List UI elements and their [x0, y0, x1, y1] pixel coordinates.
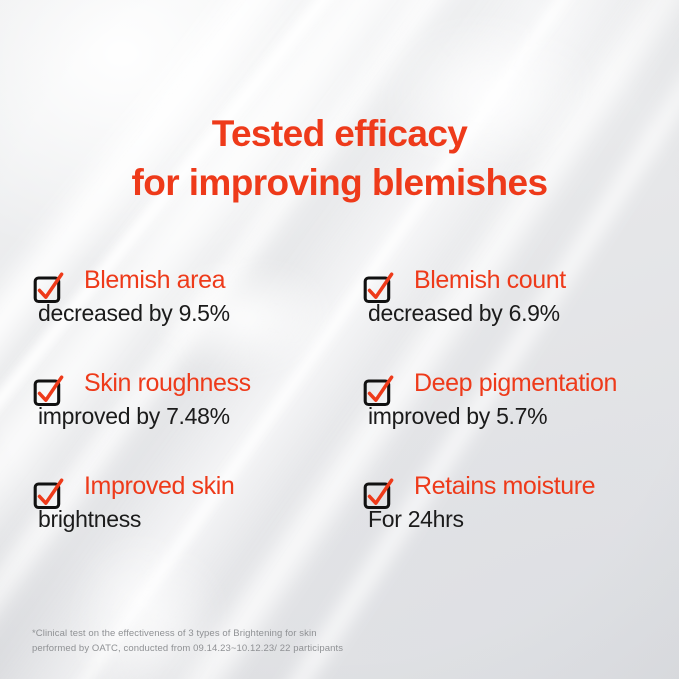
checklist-item-subtitle: decreased by 9.5% [38, 297, 230, 329]
footnote-disclaimer: *Clinical test on the effectiveness of 3… [32, 626, 343, 656]
checklist-item-subtitle: brightness [38, 503, 234, 535]
checklist-item-title: Retains moisture [414, 470, 595, 503]
checklist-item-title: Deep pigmentation [414, 367, 617, 400]
checklist-item-text: Blemish area decreased by 9.5% [84, 264, 230, 329]
checklist-item-text: Skin roughness improved by 7.48% [84, 367, 251, 432]
page-title-line-2: for improving blemishes [0, 158, 679, 207]
checklist-row: Skin roughness improved by 7.48% Deep pi… [0, 367, 679, 470]
checklist-item-title: Skin roughness [84, 367, 251, 400]
checklist-item-title: Blemish count [414, 264, 566, 297]
checklist-item-text: Deep pigmentation improved by 5.7% [414, 367, 617, 432]
page-title: Tested efficacy for improving blemishes [0, 109, 679, 207]
checklist-item-text: Retains moisture For 24hrs [414, 470, 595, 535]
checklist-item-subtitle: For 24hrs [368, 503, 595, 535]
checklist-item-title: Improved skin [84, 470, 234, 503]
checklist-item-subtitle: improved by 5.7% [368, 400, 617, 432]
checklist-item-text: Blemish count decreased by 6.9% [414, 264, 566, 329]
checklist-item-title: Blemish area [84, 264, 230, 297]
checklist-row: Improved skin brightness Retains moistur… [0, 470, 679, 573]
footnote-line-1: *Clinical test on the effectiveness of 3… [32, 626, 343, 641]
page-title-line-1: Tested efficacy [0, 109, 679, 158]
benefit-checklist: Blemish area decreased by 9.5% Blemish c… [0, 264, 679, 573]
checklist-row: Blemish area decreased by 9.5% Blemish c… [0, 264, 679, 367]
checklist-item-subtitle: improved by 7.48% [38, 400, 251, 432]
checklist-item-text: Improved skin brightness [84, 470, 234, 535]
efficacy-infographic: Tested efficacy for improving blemishes … [0, 0, 679, 679]
checklist-item-subtitle: decreased by 6.9% [368, 297, 566, 329]
footnote-line-2: performed by OATC, conducted from 09.14.… [32, 641, 343, 656]
